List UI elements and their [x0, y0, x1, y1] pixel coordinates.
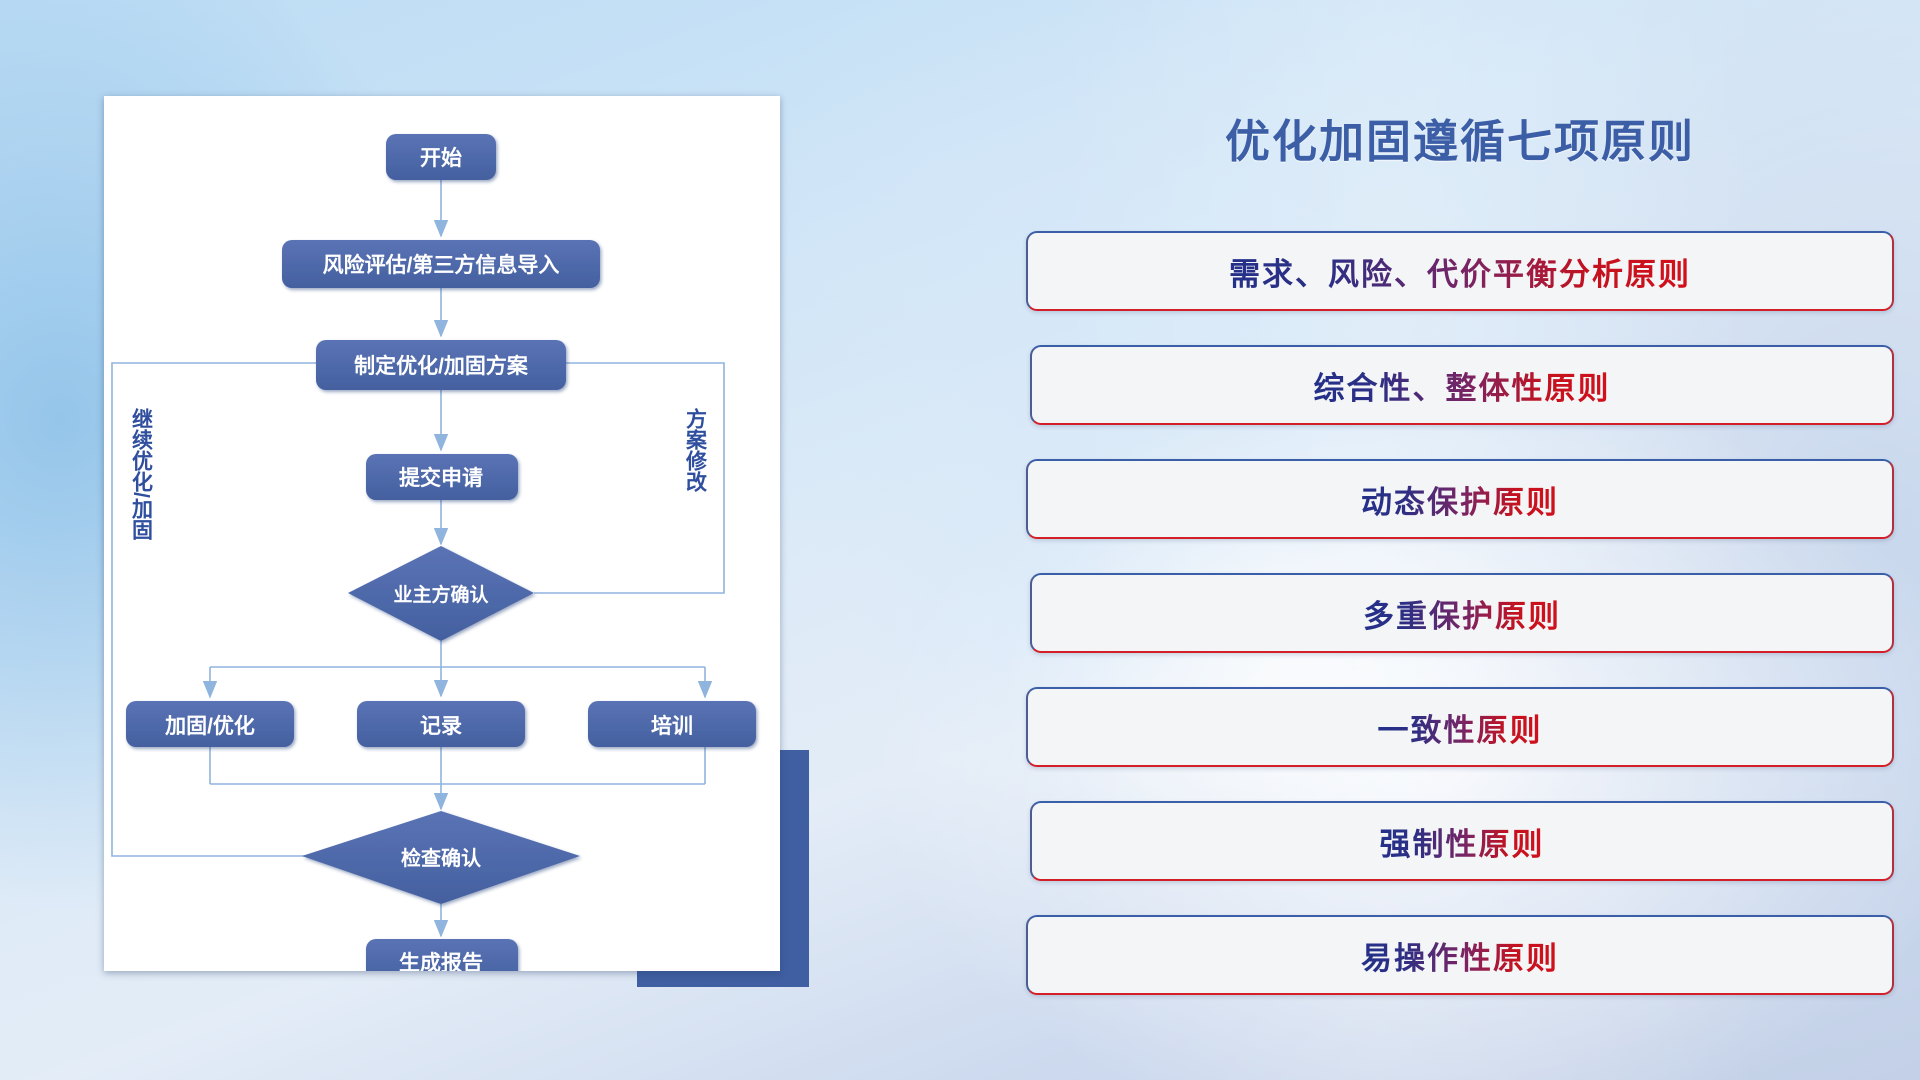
principle-card-label: 一致性原则 — [1378, 705, 1543, 750]
flowchart: 开始 风险评估/第三方信息导入 制定优化/加固方案 提交申请 业主方确认 加固/… — [104, 96, 780, 971]
panel-title: 优化加固遵循七项原则 — [1000, 105, 1920, 170]
node-training-label: 培训 — [651, 714, 693, 738]
principle-card[interactable]: 一致性原则 — [1026, 687, 1894, 767]
principle-card[interactable]: 多重保护原则 — [1030, 573, 1894, 653]
principle-card-label: 需求、风险、代价平衡分析原则 — [1229, 249, 1691, 294]
principle-card[interactable]: 动态保护原则 — [1026, 459, 1894, 539]
principle-card[interactable]: 需求、风险、代价平衡分析原则 — [1026, 231, 1894, 311]
principles-panel: 优化加固遵循七项原则 需求、风险、代价平衡分析原则 综合性、整体性原则 动态保护… — [1000, 0, 1920, 1080]
node-report-label: 生成报告 — [399, 951, 483, 971]
edge-label-right-loop: 方案修改 — [684, 407, 709, 493]
node-check-label: 检查确认 — [401, 846, 482, 870]
node-plan-label: 制定优化/加固方案 — [354, 354, 529, 378]
principle-card[interactable]: 强制性原则 — [1030, 801, 1894, 881]
node-reinforce-label: 加固/优化 — [164, 714, 255, 738]
principle-card-label: 动态保护原则 — [1361, 477, 1559, 522]
principle-card-label: 强制性原则 — [1380, 819, 1545, 864]
principle-card[interactable]: 易操作性原则 — [1026, 915, 1894, 995]
principles-card-list: 需求、风险、代价平衡分析原则 综合性、整体性原则 动态保护原则 多重保护原则 一… — [1026, 231, 1894, 1029]
node-record-label: 记录 — [420, 715, 462, 738]
node-submit-label: 提交申请 — [399, 466, 483, 490]
principle-card-label: 易操作性原则 — [1361, 933, 1559, 978]
principle-card-label: 综合性、整体性原则 — [1314, 363, 1611, 408]
principle-card-label: 多重保护原则 — [1363, 591, 1561, 636]
node-owner-label: 业主方确认 — [393, 583, 488, 606]
node-risk-label: 风险评估/第三方信息导入 — [323, 253, 560, 277]
edge-label-left-loop: 继续优化/加固 — [130, 407, 155, 540]
principle-card[interactable]: 综合性、整体性原则 — [1030, 345, 1894, 425]
node-start-label: 开始 — [420, 146, 462, 170]
